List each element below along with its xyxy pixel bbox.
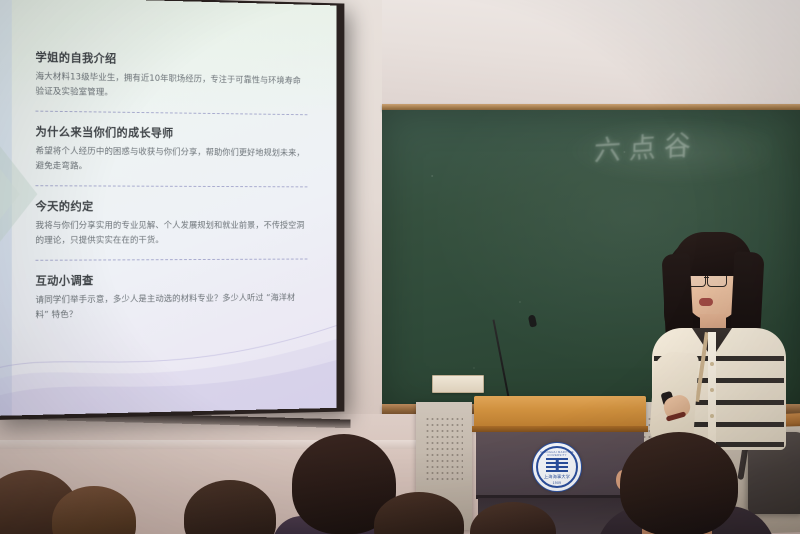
slide-content: 学姐的自我介绍 海大材料13级毕业生，拥有近10年职场经历，专注于可靠性与环境寿…	[35, 49, 307, 325]
emblem-mast-icon	[556, 459, 559, 471]
section-divider	[35, 185, 307, 187]
cardigan-button	[710, 414, 714, 418]
presenter-mouth	[699, 298, 713, 306]
blackboard-chalk-text: 六点谷	[594, 123, 700, 169]
slide-section-interactive-survey: 互动小调查 请同学们举手示意，多少人是主动选的材料专业？多少人听过 “海洋材料”…	[35, 271, 307, 323]
university-emblem: SHANGHAI MARITIME UNIVERSITY 上海海事大学 1909	[532, 442, 582, 492]
section-divider	[35, 258, 307, 260]
slide-section-why-mentor: 为什么来当你们的成长导师 希望将个人经历中的困惑与收获与你们分享，帮助你们更好地…	[35, 123, 307, 175]
speaker-grille	[425, 416, 463, 480]
emblem-name-cn: 上海海事大学	[533, 474, 581, 480]
upper-wall	[382, 0, 800, 112]
glasses-bridge-icon	[704, 277, 709, 278]
section-title: 互动小调查	[35, 271, 307, 289]
section-text: 我将与你们分享实用的专业见解、个人发展规划和就业前景，不传授空洞的理论，只提供实…	[35, 219, 307, 249]
emblem-arc-text: SHANGHAI MARITIME UNIVERSITY	[533, 451, 581, 457]
cardigan-button	[710, 388, 714, 392]
cardigan-button	[710, 362, 714, 366]
chalk-box	[432, 375, 484, 393]
audience-head	[620, 432, 738, 534]
section-title: 今天的约定	[35, 198, 307, 214]
section-text: 希望将个人经历中的困惑与收获与你们分享，帮助你们更好地规划未来，避免走弯路。	[35, 144, 307, 175]
slide-section-self-intro: 学姐的自我介绍 海大材料13级毕业生，拥有近10年职场经历，专注于可靠性与环境寿…	[35, 49, 307, 104]
section-text: 请同学们举手示意，多少人是主动选的材料专业？多少人听过 “海洋材料” 特色？	[35, 291, 307, 323]
chevron-decor-icon	[0, 146, 20, 242]
emblem-year: 1909	[533, 481, 581, 485]
slide-section-today-promise: 今天的约定 我将与你们分享实用的专业见解、个人发展规划和就业前景，不传授空洞的理…	[35, 198, 307, 249]
presentation-slide: 学姐的自我介绍 海大材料13级毕业生，拥有近10年职场经历，专注于可靠性与环境寿…	[0, 0, 337, 416]
presenter	[636, 228, 800, 448]
lecture-hall-scene: 六点谷 学姐的自我介绍 海大材料13级毕业生，拥有近10	[0, 0, 800, 534]
podium-desktop	[474, 396, 646, 430]
projector-screen: 学姐的自我介绍 海大材料13级毕业生，拥有近10年职场经历，专注于可靠性与环境寿…	[0, 0, 337, 416]
section-text: 海大材料13级毕业生，拥有近10年职场经历，专注于可靠性与环境寿命验证及实验室管…	[35, 70, 307, 104]
section-divider	[35, 111, 307, 116]
section-title: 为什么来当你们的成长导师	[35, 123, 307, 142]
